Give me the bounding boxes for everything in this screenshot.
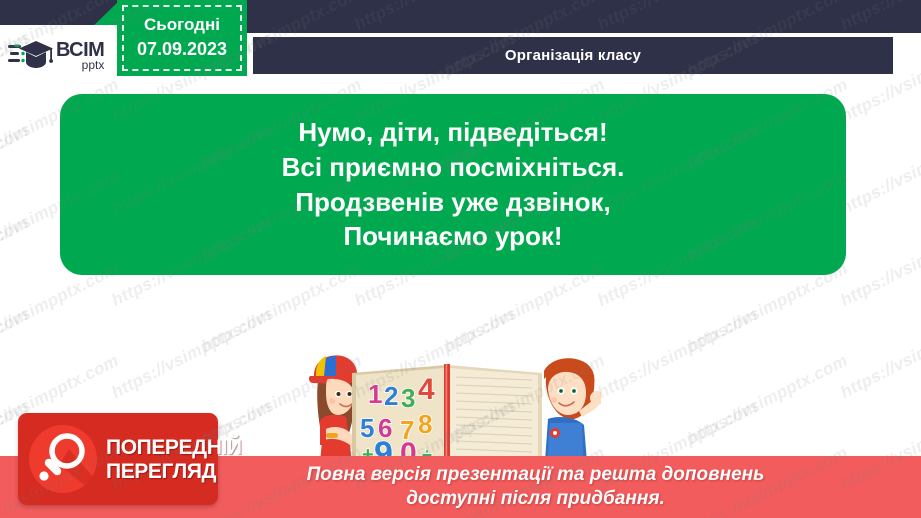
watermark-text: https://vsimpptx.com (837, 213, 921, 311)
graduation-cap-icon (8, 38, 54, 72)
watermark-text: https://vsimpptx.com (684, 351, 851, 449)
watermark-text: https://vsimpptx.com (0, 305, 32, 403)
poem-line: Всі приємно посміхніться. (282, 150, 625, 185)
svg-text:4: 4 (418, 373, 435, 406)
logo-wordmark: ВСІМ (56, 40, 104, 60)
poem-line: Продзвенів уже дзвінок, (295, 185, 610, 220)
watermark-text: https://vsimpptx.com (837, 121, 921, 219)
brand-logo[interactable]: ВСІМ pptx (8, 32, 120, 78)
girl-figure (309, 355, 359, 463)
slide-title-bar: Організація класу (253, 37, 893, 74)
purchase-notice-line-2: доступні після придбання. (307, 487, 765, 511)
watermark-text: https://vsimpptx.com (0, 213, 32, 311)
poem-card: Нумо, діти, підведіться! Всі приємно пос… (60, 94, 846, 275)
svg-text:5: 5 (360, 413, 374, 443)
preview-badge-line-1: ПОПЕРЕДНІЙ (106, 437, 242, 458)
presentation-slide: ВСІМ pptx Сьогодні 07.09.2023 Організаці… (0, 0, 921, 518)
date-badge: Сьогодні 07.09.2023 (117, 0, 247, 76)
watermark-text: https://vsimpptx.com (837, 305, 921, 403)
slide-title: Організація класу (505, 47, 641, 64)
watermark-text: https://vsimpptx.com (594, 305, 761, 403)
svg-text:1: 1 (368, 379, 382, 409)
watermark-text: https://vsimpptx.com (108, 305, 275, 403)
watermark-text: https://vsimpptx.com (0, 121, 32, 219)
date-badge-label: Сьогодні (144, 14, 220, 37)
preview-badge[interactable]: ПОПЕРЕДНІЙ ПЕРЕГЛЯД (18, 413, 218, 505)
watermark-row: https://vsimpptx.comhttps://vsimpptx.com… (0, 292, 921, 312)
preview-badge-line-2: ПЕРЕГЛЯД (106, 461, 242, 482)
date-badge-value: 07.09.2023 (137, 37, 227, 61)
svg-text:8: 8 (418, 409, 432, 439)
poem-line: Починаємо урок! (343, 219, 562, 254)
poem-line: Нумо, діти, підведіться! (298, 115, 607, 150)
purchase-notice-line-1: Повна версія презентації та решта доповн… (307, 463, 765, 487)
magnifier-icon (29, 425, 97, 493)
svg-text:2: 2 (384, 381, 398, 411)
svg-text:3: 3 (401, 383, 415, 413)
